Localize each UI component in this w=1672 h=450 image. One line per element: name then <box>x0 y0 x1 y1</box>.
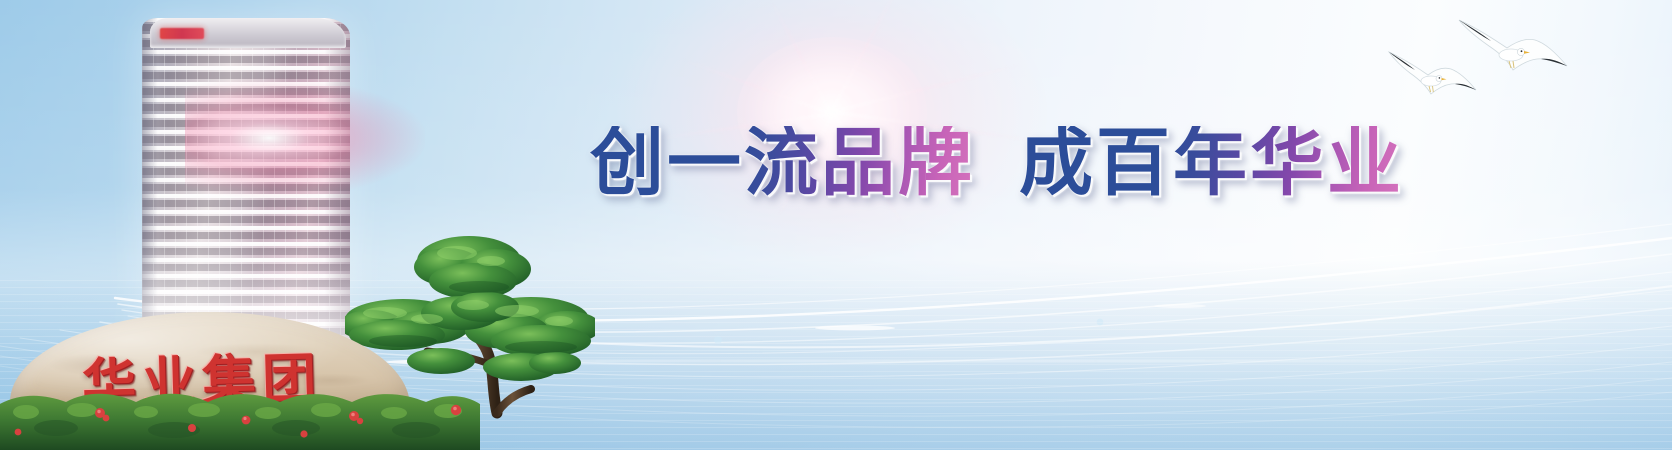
slogan-part-1: 创一流品牌 <box>590 126 975 200</box>
slogan-headline: 创一流品牌 成百年华业 <box>590 126 1404 200</box>
seagull-icon <box>1386 48 1478 109</box>
slogan-part-2: 成百年华业 <box>1019 126 1404 200</box>
tower-signage <box>160 28 204 39</box>
hero-banner: 华业集团 <box>0 0 1672 450</box>
hedge-shrub-icon <box>0 384 476 450</box>
